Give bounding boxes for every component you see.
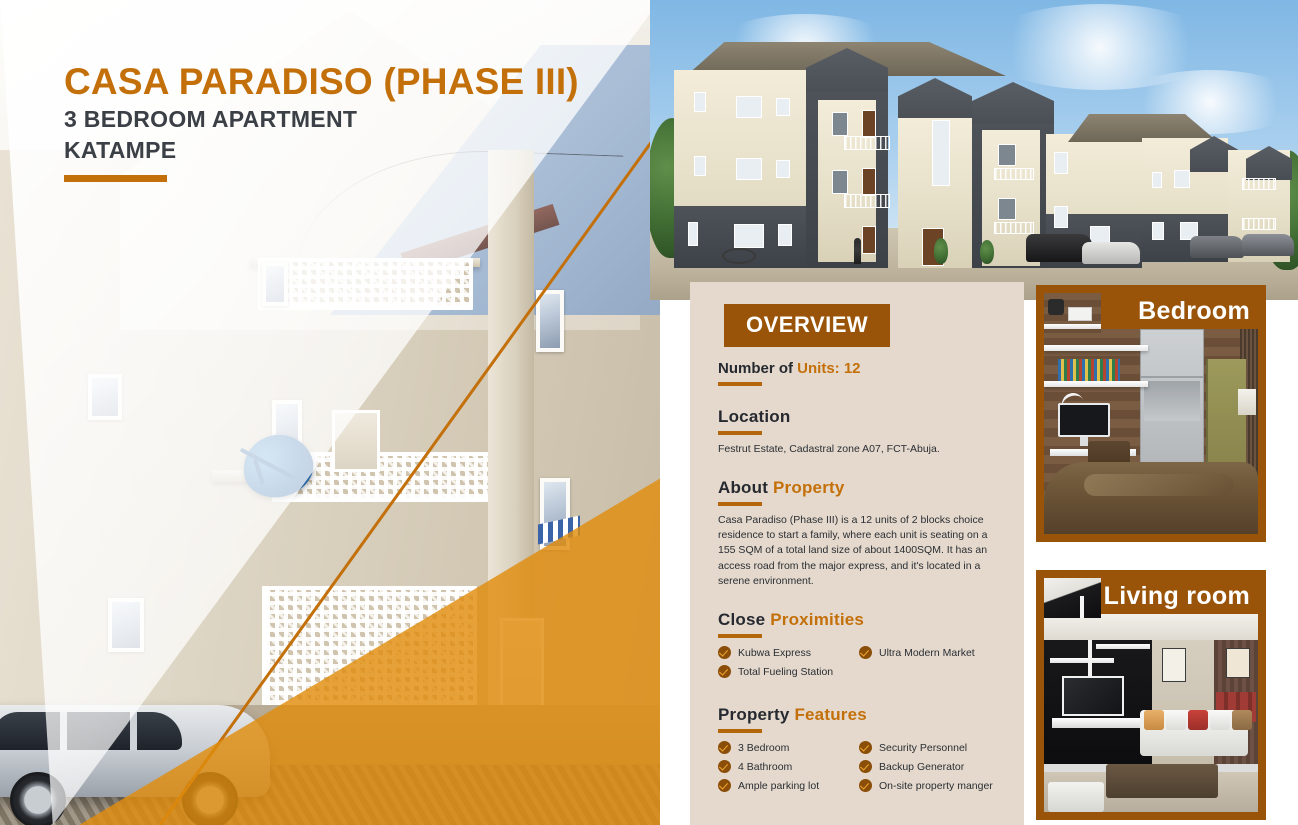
list-item-label: Ultra Modern Market	[879, 647, 975, 659]
location-rule	[718, 431, 762, 435]
check-icon	[718, 779, 731, 792]
features-heading-part1: Property	[718, 705, 794, 724]
living-room-ottoman	[1048, 782, 1104, 812]
about-heading-part2: Property	[773, 478, 845, 497]
list-item: On-site property manger	[859, 779, 1000, 792]
render-window	[694, 92, 706, 112]
render-window	[1152, 222, 1164, 240]
living-room-shelf-2	[1096, 644, 1150, 649]
living-room-coffee-table	[1106, 764, 1218, 798]
location-section: Location Festrut Estate, Cadastral zone …	[718, 407, 1000, 457]
living-room-shelf-1	[1050, 658, 1114, 663]
living-room-artwork-1	[1162, 648, 1186, 682]
bedroom-books	[1058, 359, 1120, 381]
bedroom-wardrobe-niche	[1144, 381, 1200, 421]
about-text: Casa Paradiso (Phase III) is a 12 units …	[718, 513, 1000, 589]
check-icon	[859, 646, 872, 659]
page-title: CASA PARADISO (PHASE III)	[64, 62, 624, 102]
proximities-heading-part1: Close	[718, 610, 770, 629]
render-balcony-door	[862, 110, 876, 138]
list-item: Kubwa Express	[718, 646, 859, 659]
bedroom-bed	[1044, 462, 1258, 534]
living-room-pillow-red	[1188, 710, 1208, 730]
render-window	[832, 170, 848, 194]
bedroom-card-label: Bedroom	[1132, 295, 1256, 328]
about-rule	[718, 502, 762, 506]
check-icon	[718, 646, 731, 659]
units-underline-rule	[718, 382, 762, 386]
list-item: 3 Bedroom	[718, 741, 859, 754]
units-value: Units: 12	[797, 360, 860, 377]
render-balcony-rail	[844, 136, 890, 150]
list-item-label: 4 Bathroom	[738, 761, 792, 773]
brochure-page: CASA PARADISO (PHASE III) 3 BEDROOM APAR…	[0, 0, 1298, 825]
living-room-artwork-2	[1226, 648, 1250, 678]
list-item-label: Kubwa Express	[738, 647, 811, 659]
features-heading-part2: Features	[794, 705, 866, 724]
features-section: Property Features 3 Bedroom Security Per…	[718, 705, 1000, 798]
features-heading: Property Features	[718, 705, 1000, 725]
bedroom-monitor	[1058, 403, 1110, 437]
features-rule	[718, 729, 762, 733]
list-item: Security Personnel	[859, 741, 1000, 754]
window-right-upper	[536, 290, 564, 352]
location-text: Festrut Estate, Cadastral zone A07, FCT-…	[718, 442, 1000, 457]
render-window	[1152, 172, 1162, 188]
list-item: Total Fueling Station	[718, 665, 859, 678]
bedroom-shelf-mid	[1044, 381, 1148, 387]
render-window	[778, 224, 792, 246]
render-person	[854, 238, 861, 264]
living-room-card-label: Living room	[1098, 580, 1256, 613]
list-item: Backup Generator	[859, 760, 1000, 773]
check-icon	[718, 741, 731, 754]
bedroom-image	[1044, 329, 1258, 534]
living-room-pillow-tan	[1144, 710, 1164, 730]
check-icon	[859, 779, 872, 792]
proximities-list: Kubwa Express Ultra Modern Market Total …	[718, 646, 1000, 684]
render-shrub-1	[934, 238, 948, 264]
render-stairwell-glass	[932, 120, 950, 186]
list-item-label: Backup Generator	[879, 761, 964, 773]
living-room-pillow-brown	[1232, 710, 1252, 730]
render-balcony-rail	[1242, 178, 1276, 190]
about-section: About Property Casa Paradiso (Phase III)…	[718, 478, 1000, 589]
living-room-tv-console	[1052, 718, 1142, 728]
list-item-label: On-site property manger	[879, 780, 993, 792]
render-bicycle	[722, 248, 756, 264]
render-balcony-door	[862, 226, 876, 254]
living-room-image	[1044, 614, 1258, 812]
living-room-image-top-sliver	[1044, 578, 1101, 618]
title-block: CASA PARADISO (PHASE III) 3 BEDROOM APAR…	[64, 62, 624, 182]
bedroom-card: Bedroom	[1036, 285, 1266, 542]
render-window	[736, 158, 762, 180]
list-item-label: Total Fueling Station	[738, 666, 833, 678]
location-heading: Location	[718, 407, 1000, 427]
units-label: Number of	[718, 360, 797, 377]
list-item: Ample parking lot	[718, 779, 859, 792]
title-underline-rule	[64, 175, 167, 182]
proximities-heading: Close Proximities	[718, 610, 1000, 630]
list-item-label: Security Personnel	[879, 742, 967, 754]
list-item-label: Ample parking lot	[738, 780, 819, 792]
bedroom-shelf-top	[1044, 345, 1148, 351]
about-heading-part1: About	[718, 478, 773, 497]
render-window	[694, 156, 706, 176]
bedroom-image-top-sliver	[1044, 293, 1101, 333]
render-balcony-rail	[994, 168, 1034, 180]
render-balcony-door	[862, 168, 876, 196]
render-car-sedan	[1082, 242, 1140, 264]
proximities-heading-part2: Proximities	[770, 610, 864, 629]
render-window	[1054, 152, 1068, 174]
apartment-render-photo	[650, 0, 1298, 300]
render-window	[776, 160, 790, 178]
list-item: 4 Bathroom	[718, 760, 859, 773]
render-car-grey-1	[1190, 236, 1244, 258]
check-icon	[859, 741, 872, 754]
render-window	[736, 96, 762, 118]
proximities-section: Close Proximities Kubwa Express Ultra Mo…	[718, 610, 1000, 684]
about-heading: About Property	[718, 478, 1000, 498]
render-window	[688, 222, 698, 246]
bedroom-monitor-stand	[1080, 437, 1088, 446]
features-list: 3 Bedroom Security Personnel 4 Bathroom …	[718, 741, 1000, 798]
bedroom-floor-lamp	[1238, 389, 1256, 415]
render-balcony-rail	[1242, 218, 1276, 230]
check-icon	[718, 760, 731, 773]
render-window	[998, 198, 1016, 220]
list-item: Ultra Modern Market	[859, 646, 1000, 659]
page-subtitle-line1: 3 BEDROOM APARTMENT	[64, 105, 624, 133]
living-room-pillow-white-2	[1210, 710, 1230, 730]
render-window	[832, 112, 848, 136]
overview-badge: OVERVIEW	[724, 304, 890, 347]
units-line: Number of Units: 12	[718, 360, 1000, 377]
render-window	[1174, 170, 1190, 188]
living-room-pillow-white-1	[1166, 710, 1186, 730]
living-room-vertical-accent	[1088, 640, 1092, 680]
check-icon	[718, 665, 731, 678]
render-window	[998, 144, 1016, 166]
render-window	[1054, 206, 1068, 228]
check-icon	[859, 760, 872, 773]
render-shrub-2	[980, 240, 994, 264]
render-car-grey-2	[1242, 234, 1294, 256]
render-balcony-rail	[844, 194, 890, 208]
proximities-rule	[718, 634, 762, 638]
hero-building-photo: CASA PARADISO (PHASE III) 3 BEDROOM APAR…	[0, 0, 660, 825]
render-balcony-rail	[994, 222, 1034, 234]
overview-panel: OVERVIEW Number of Units: 12 Location Fe…	[690, 282, 1024, 825]
page-subtitle-line2: KATAMPE	[64, 136, 624, 164]
bedroom-door	[1206, 359, 1246, 479]
render-window	[776, 98, 790, 116]
living-room-television	[1062, 676, 1124, 716]
living-room-card: Living room	[1036, 570, 1266, 820]
list-item-label: 3 Bedroom	[738, 742, 789, 754]
render-window	[734, 224, 764, 248]
